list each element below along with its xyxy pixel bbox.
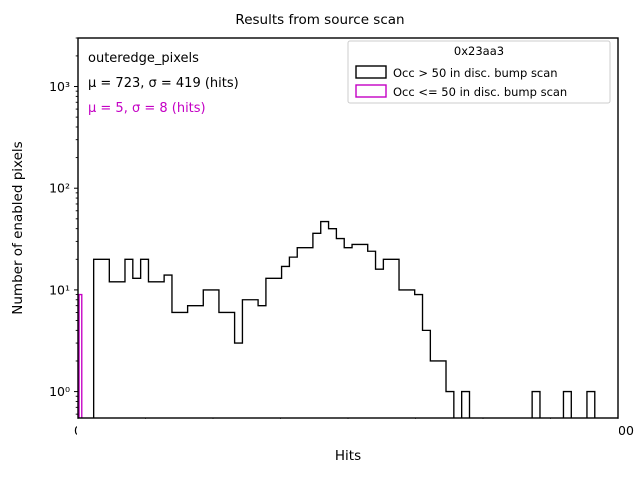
y-tick-label: 10³ bbox=[49, 79, 70, 94]
x-axis-label: Hits bbox=[335, 448, 361, 464]
y-tick-label: 10² bbox=[49, 181, 70, 196]
legend-label-0: Occ > 50 in disc. bump scan bbox=[393, 66, 558, 80]
plot-area: 02505007501000125015001750200010⁰10¹10²1… bbox=[0, 0, 640, 480]
y-tick-label: 10¹ bbox=[49, 282, 70, 297]
y-tick-label: 10⁰ bbox=[49, 384, 70, 399]
annotation-line-2: μ = 5, σ = 8 (hits) bbox=[88, 101, 206, 116]
legend-title: 0x23aa3 bbox=[454, 44, 504, 58]
legend-label-1: Occ <= 50 in disc. bump scan bbox=[393, 85, 567, 99]
y-axis-label: Number of enabled pixels bbox=[10, 141, 26, 314]
annotation-line-1: μ = 723, σ = 419 (hits) bbox=[88, 76, 239, 91]
annotation-line-0: outeredge_pixels bbox=[88, 51, 199, 66]
figure-canvas: Results from source scan 025050075010001… bbox=[0, 0, 640, 480]
